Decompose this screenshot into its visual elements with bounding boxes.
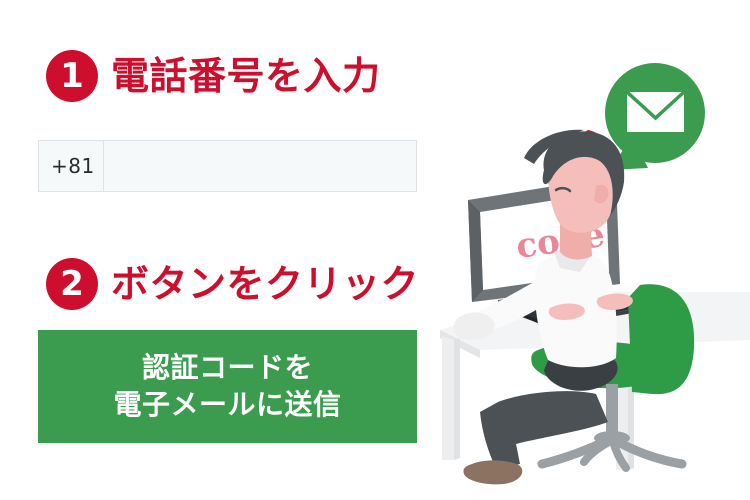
step-2-badge: 2: [46, 258, 98, 310]
step-1-heading: 1 電話番号を入力: [46, 50, 381, 102]
step-2-title: ボタンをクリック: [111, 265, 419, 303]
send-auth-code-button[interactable]: 認証コードを 電子メールに送信: [38, 330, 417, 443]
send-auth-code-button-line1: 認証コードを: [142, 350, 313, 387]
step-1-badge: 1: [46, 50, 98, 102]
person-icon: [454, 130, 633, 485]
send-auth-code-button-line2: 電子メールに送信: [113, 387, 341, 424]
envelope-icon: [627, 92, 684, 132]
phone-number-input[interactable]: [104, 141, 416, 191]
step-2-heading: 2 ボタンをクリック: [46, 258, 419, 310]
step-1-title: 電話番号を入力: [111, 57, 381, 95]
country-code-prefix: +81: [39, 141, 104, 191]
desk-scene-illustration: code: [420, 40, 750, 490]
illustration-canvas: 1 電話番号を入力 +81 2 ボタンをクリック 認証コードを 電子メールに送信: [0, 0, 750, 500]
phone-number-field-group[interactable]: +81: [38, 140, 417, 192]
